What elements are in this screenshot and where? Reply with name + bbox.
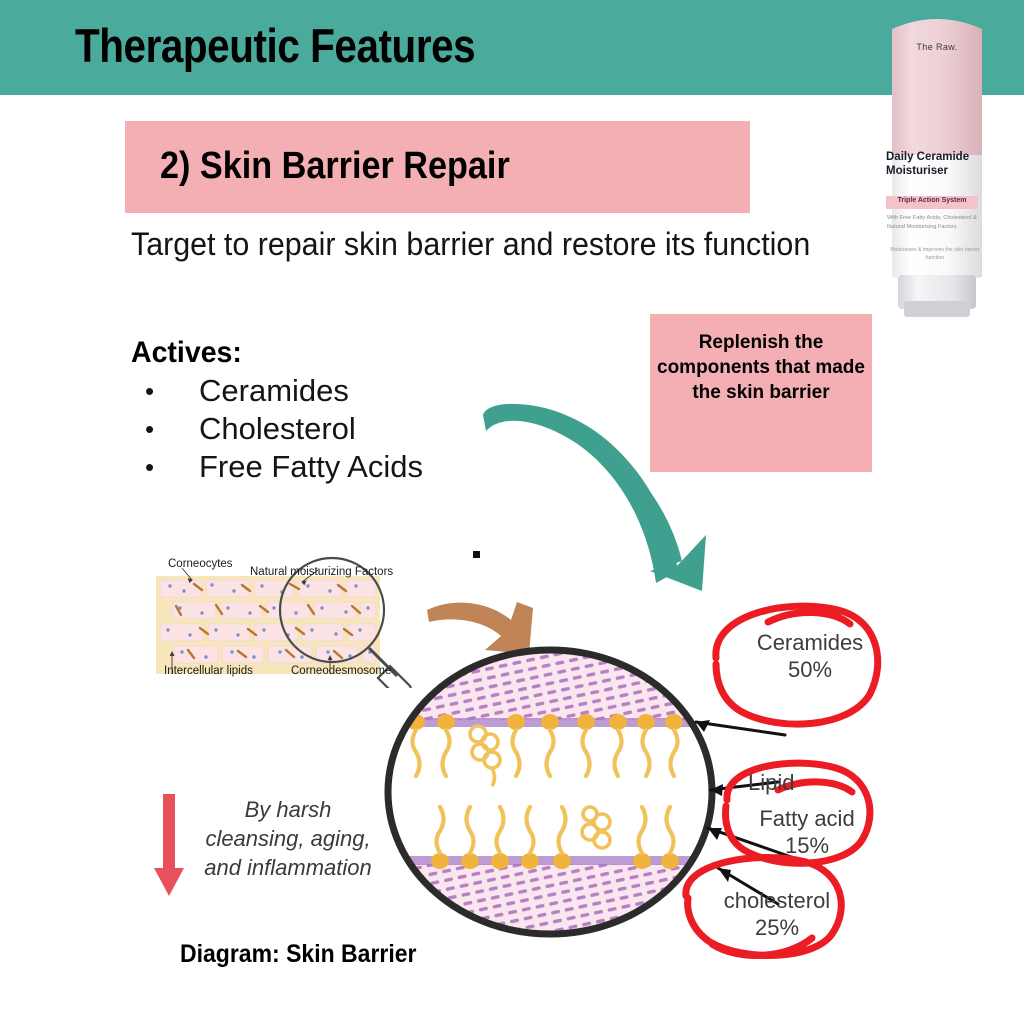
list-item: • Cholesterol: [131, 410, 423, 448]
list-item: • Free Fatty Acids: [131, 448, 423, 486]
list-item-label: Ceramides: [199, 373, 349, 408]
tube-badge-label: Triple Action System: [886, 197, 978, 204]
section-heading-label: 2) Skin Barrier Repair: [160, 145, 510, 188]
dot-marker: [473, 551, 480, 558]
label-intercellular-lipids: Intercellular lipids: [164, 665, 253, 677]
annotation-cholesterol: cholesterol 25%: [697, 888, 857, 942]
list-item: • Ceramides: [131, 372, 423, 410]
slide-canvas: Therapeutic Features: [0, 0, 1024, 1024]
annotation-ceramides-name: Ceramides: [757, 630, 863, 655]
actives-title: Actives:: [131, 336, 242, 370]
annotation-ceramides-value: 50%: [788, 657, 832, 682]
label-corneodesmosome: Corneodesmosome: [291, 665, 391, 677]
page-title: Therapeutic Features: [75, 18, 475, 73]
annotation-fatty-acid-value: 15%: [785, 833, 829, 858]
actives-list: • Ceramides • Cholesterol • Free Fatty A…: [131, 372, 423, 485]
tube-fine-print-secondary: Moisturises & improves the skin barrier …: [889, 246, 981, 262]
lead-paragraph: Target to repair skin barrier and restor…: [131, 226, 815, 264]
list-item-label: Free Fatty Acids: [199, 449, 423, 484]
teal-curved-arrow-icon: [480, 395, 780, 595]
callout-label: Replenish the components that made the s…: [650, 330, 872, 405]
annotation-fatty-acid: Fatty acid 15%: [742, 806, 872, 860]
annotation-ceramides: Ceramides 50%: [735, 630, 885, 684]
annotation-fatty-acid-name: Fatty acid: [759, 806, 854, 831]
bullet-icon: •: [145, 412, 154, 447]
bullet-icon: •: [145, 450, 154, 485]
diagram-caption: Diagram: Skin Barrier: [180, 940, 416, 969]
annotation-cholesterol-value: 25%: [755, 915, 799, 940]
annotation-lipid: Lipid: [748, 770, 838, 797]
red-down-arrow-icon: [152, 790, 186, 900]
tube-product-name: Daily Ceramide Moisturiser: [886, 150, 986, 179]
tube-fine-print: With Free Fatty Acids, Cholesterol & Nat…: [887, 214, 979, 231]
label-corneocytes: Corneocytes: [168, 558, 233, 570]
tube-brand-label: The Raw.: [878, 42, 996, 52]
list-item-label: Cholesterol: [199, 411, 356, 446]
bullet-icon: •: [145, 374, 154, 409]
degradation-note: By harsh cleansing, aging, and inflammat…: [198, 795, 378, 882]
label-natural-moisturizing-factors: Natural moisturizing Factors: [250, 566, 393, 578]
annotation-cholesterol-name: cholesterol: [724, 888, 830, 913]
